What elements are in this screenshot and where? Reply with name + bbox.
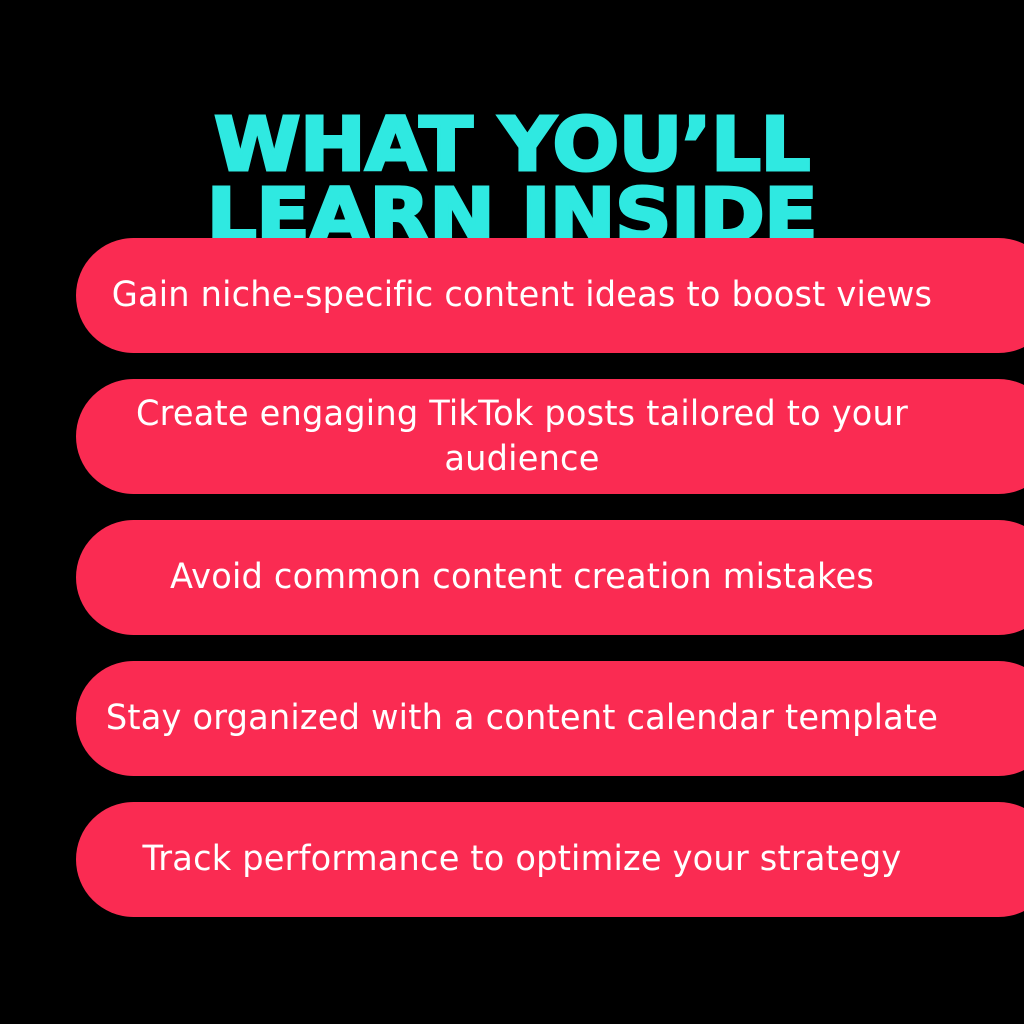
benefits-list: Gain niche-specific content ideas to boo… [76,238,1024,917]
benefit-text-2: Create engaging TikTok posts tailored to… [100,392,945,480]
page-title: WHAT YOU’LL LEARN INSIDE [0,114,1024,249]
list-item: Avoid common content creation mistakes [76,520,1024,635]
poster-canvas: WHAT YOU’LL LEARN INSIDE Gain niche-spec… [0,0,1024,1024]
benefit-text-4: Stay organized with a content calendar t… [100,696,945,740]
list-item: Track performance to optimize your strat… [76,802,1024,917]
page-title-line-1: WHAT YOU’LL [0,114,1024,178]
benefit-text-5: Track performance to optimize your strat… [100,837,945,881]
benefit-text-3: Avoid common content creation mistakes [100,555,945,599]
list-item: Create engaging TikTok posts tailored to… [76,379,1024,494]
list-item: Stay organized with a content calendar t… [76,661,1024,776]
benefit-text-1: Gain niche-specific content ideas to boo… [100,273,945,317]
list-item: Gain niche-specific content ideas to boo… [76,238,1024,353]
